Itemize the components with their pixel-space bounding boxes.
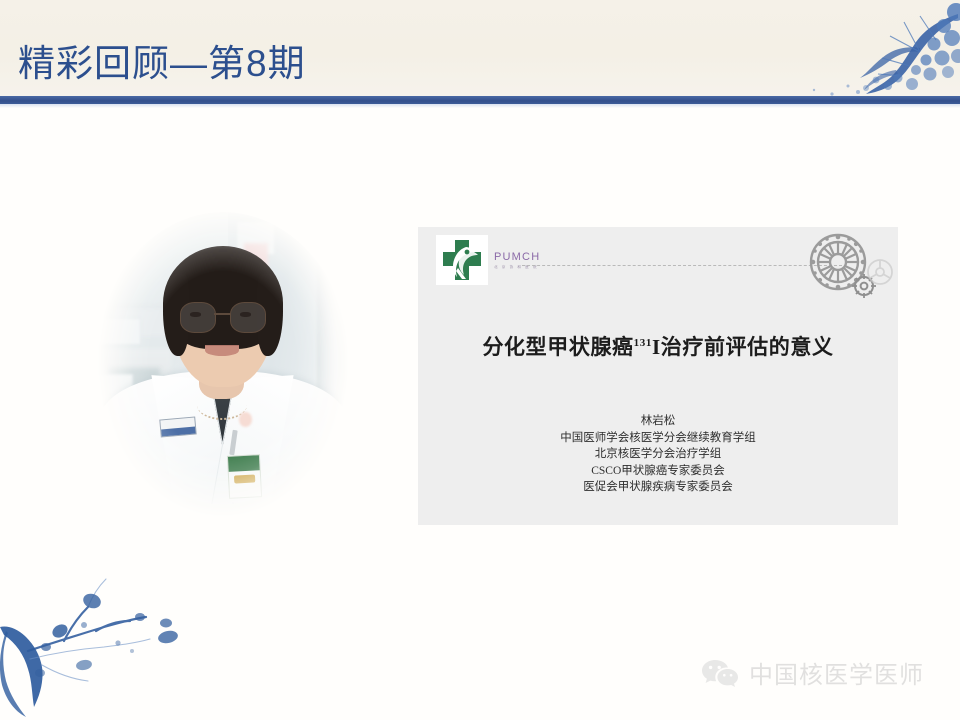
footer-watermark-text: 中国核医学医师 bbox=[749, 655, 924, 690]
author-line: 林岩松 bbox=[418, 413, 898, 430]
header-divider-shadow bbox=[0, 104, 960, 108]
page-title: 精彩回顾—第8期 bbox=[18, 40, 306, 88]
ink-blossom-bottom-left bbox=[0, 555, 230, 720]
presentation-slide: PUMCH 北 京 协 和 医 院 bbox=[418, 227, 898, 525]
background-box bbox=[97, 318, 141, 345]
slide-page: 精彩回顾—第8期 bbox=[0, 0, 960, 720]
footer-watermark: 中国核医学医师 bbox=[700, 655, 924, 690]
person-glasses-left-lens bbox=[180, 302, 216, 332]
header-divider-rule bbox=[0, 96, 960, 104]
person-name-tag bbox=[159, 416, 196, 437]
presenter-photo bbox=[92, 212, 354, 524]
slide-heading-superscript: 131 bbox=[634, 337, 652, 349]
author-line: 北京核医学分会治疗学组 bbox=[418, 446, 898, 463]
presenter-photo-mask bbox=[92, 212, 354, 524]
person-glasses-right-lens bbox=[230, 302, 266, 332]
slide-heading-prefix: 分化型甲状腺癌 bbox=[482, 335, 633, 359]
person-eye-left bbox=[190, 312, 201, 317]
ink-blossom-bottom-left-icon bbox=[0, 555, 230, 720]
gears-icon bbox=[802, 230, 894, 300]
person-eye-right bbox=[240, 312, 251, 317]
wechat-icon bbox=[700, 657, 740, 689]
gears-graphic bbox=[802, 230, 894, 300]
person-mouth bbox=[205, 345, 239, 356]
slide-heading: 分化型甲状腺癌131I治疗前评估的意义 bbox=[418, 331, 898, 361]
slide-dashed-divider bbox=[522, 265, 842, 266]
pumch-logo-icon bbox=[436, 235, 488, 285]
pumch-logo bbox=[436, 235, 488, 285]
author-line: 医促会甲状腺疾病专家委员会 bbox=[418, 479, 898, 496]
author-line: CSCO甲状腺癌专家委员会 bbox=[418, 463, 898, 480]
pumch-brand-text: PUMCH bbox=[494, 251, 540, 263]
person-glasses-bridge bbox=[214, 313, 230, 315]
person-hospital-badge bbox=[227, 455, 263, 499]
slide-heading-suffix: I治疗前评估的意义 bbox=[652, 335, 834, 359]
slide-author-block: 林岩松 中国医师学会核医学分会继续教育学组 北京核医学分会治疗学组 CSCO甲状… bbox=[418, 413, 898, 496]
author-line: 中国医师学会核医学分会继续教育学组 bbox=[418, 430, 898, 447]
person-coat-accent bbox=[239, 412, 252, 428]
